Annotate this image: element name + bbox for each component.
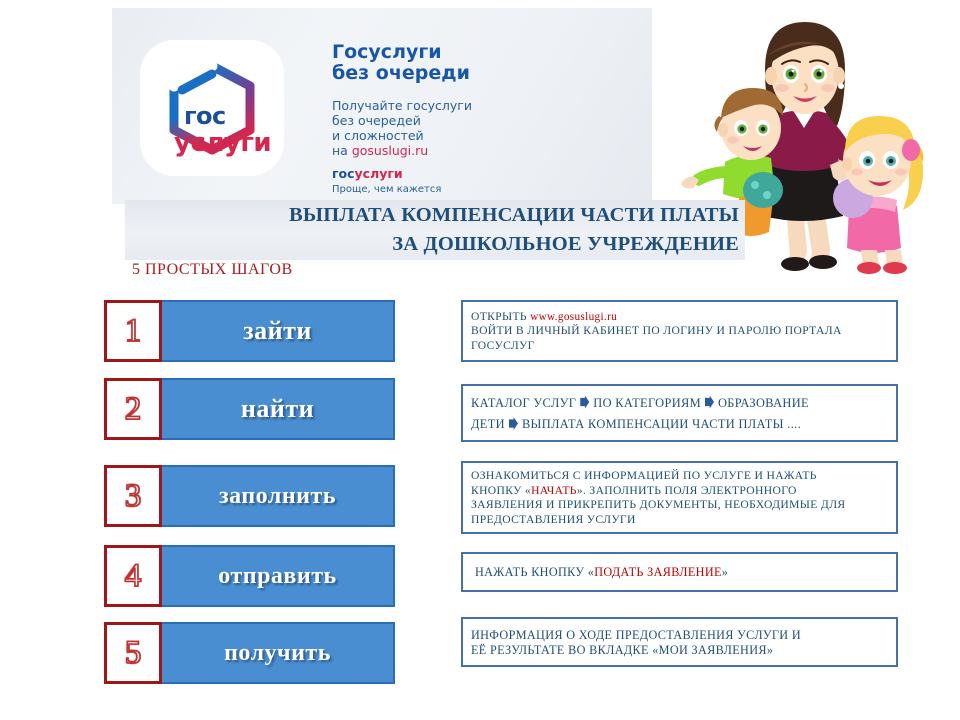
gosuslugi-logo-plate: гос услуги bbox=[140, 40, 284, 176]
step-number: 3 bbox=[125, 480, 142, 513]
step-number: 2 bbox=[125, 393, 142, 426]
desc-text: » bbox=[722, 565, 728, 579]
banner-headline-line2: без очереди bbox=[332, 62, 470, 84]
desc-line: ОТКРЫТЬ www.gosuslugi.ru bbox=[471, 310, 888, 325]
step-label: зайти bbox=[243, 316, 312, 346]
banner-sub-line4-prefix: на bbox=[332, 143, 352, 158]
logo-text-uslugi: услуги bbox=[174, 128, 271, 158]
education-label: ОБРАЗОВАНИЕ bbox=[718, 396, 809, 410]
desc-line: ГОСУСЛУГ bbox=[471, 339, 888, 354]
gosuslugi-banner: гос услуги Госуслуги без очереди Получай… bbox=[112, 8, 652, 204]
step-row[interactable]: 4 отправить bbox=[104, 545, 395, 607]
submit-application-mention: ПОДАТЬ ЗАЯВЛЕНИЕ bbox=[594, 565, 722, 579]
step-number-box: 4 bbox=[104, 545, 162, 607]
desc-line: ВОЙТИ В ЛИЧНЫЙ КАБИНЕТ ПО ЛОГИНУ И ПАРОЛ… bbox=[471, 324, 888, 339]
step-description-box: ИНФОРМАЦИЯ О ХОДЕ ПРЕДОСТАВЛЕНИЯ УСЛУГИ … bbox=[461, 617, 898, 667]
step-label: получить bbox=[224, 640, 331, 667]
step-row[interactable]: 3 заполнить bbox=[104, 465, 395, 527]
desc-line: ОЗНАКОМИТЬСЯ С ИНФОРМАЦИЕЙ ПО УСЛУГЕ И Н… bbox=[471, 469, 888, 484]
page-title-line1: ВЫПЛАТА КОМПЕНСАЦИИ ЧАСТИ ПЛАТЫ bbox=[289, 204, 739, 226]
arrow-right-icon bbox=[705, 396, 714, 409]
banner-sub-line2: без очередей bbox=[332, 113, 421, 128]
step-label-box[interactable]: отправить bbox=[162, 545, 395, 607]
step-label-box[interactable]: получить bbox=[162, 622, 395, 684]
desc-line: ДЕТИВЫПЛАТА КОМПЕНСАЦИИ ЧАСТИ ПЛАТЫ .... bbox=[471, 417, 888, 432]
arrow-right-icon bbox=[580, 396, 589, 409]
step-label: заполнить bbox=[219, 483, 336, 510]
page-title: ВЫПЛАТА КОМПЕНСАЦИИ ЧАСТИ ПЛАТЫ ЗА ДОШКО… bbox=[125, 201, 743, 259]
step-label-box[interactable]: найти bbox=[162, 378, 395, 440]
footer-logo-uslugi: услуги bbox=[355, 166, 403, 181]
step-description-box: КАТАЛОГ УСЛУГПО КАТЕГОРИЯМОБРАЗОВАНИЕ ДЕ… bbox=[461, 384, 898, 442]
desc-line: КНОПКУ «НАЧАТЬ». ЗАПОЛНИТЬ ПОЛЯ ЭЛЕКТРОН… bbox=[471, 484, 888, 499]
footer-logo-gos: гос bbox=[332, 166, 355, 181]
desc-line: ПРЕДОСТАВЛЕНИЯ УСЛУГИ bbox=[471, 513, 888, 528]
compensation-label: ВЫПЛАТА КОМПЕНСАЦИИ ЧАСТИ ПЛАТЫ .... bbox=[522, 417, 801, 431]
step-description-box: ОЗНАКОМИТЬСЯ С ИНФОРМАЦИЕЙ ПО УСЛУГЕ И Н… bbox=[461, 461, 898, 534]
step-description-box: ОТКРЫТЬ www.gosuslugi.ru ВОЙТИ В ЛИЧНЫЙ … bbox=[461, 300, 898, 362]
step-number-box: 3 bbox=[104, 465, 162, 527]
banner-footer-logo: госуслуги bbox=[332, 166, 403, 181]
gosuslugi-url-link[interactable]: www.gosuslugi.ru bbox=[530, 311, 617, 323]
banner-url[interactable]: gosuslugi.ru bbox=[352, 143, 428, 158]
step-number: 1 bbox=[125, 315, 142, 348]
step-row[interactable]: 2 найти bbox=[104, 378, 395, 440]
banner-sub-line3: и сложностей bbox=[332, 128, 424, 143]
banner-sub-line1: Получайте госуслуги bbox=[332, 98, 472, 113]
desc-line: НАЖАТЬ КНОПКУ «ПОДАТЬ ЗАЯВЛЕНИЕ» bbox=[471, 565, 888, 580]
banner-subtext: Получайте госуслуги без очередей и сложн… bbox=[332, 98, 552, 158]
step-label-box[interactable]: заполнить bbox=[162, 465, 395, 527]
step-number-box: 2 bbox=[104, 378, 162, 440]
catalog-label: КАТАЛОГ УСЛУГ bbox=[471, 396, 576, 410]
steps-heading: 5 ПРОСТЫХ ШАГОВ bbox=[132, 261, 293, 279]
categories-label: ПО КАТЕГОРИЯМ bbox=[593, 396, 701, 410]
start-button-mention: НАЧАТЬ bbox=[531, 484, 577, 497]
page-title-line2: ЗА ДОШКОЛЬНОЕ УЧРЕЖДЕНИЕ bbox=[392, 233, 739, 255]
banner-headline-line1: Госуслуги bbox=[332, 41, 442, 63]
step-number: 4 bbox=[125, 560, 142, 593]
step-label: отправить bbox=[218, 563, 336, 590]
girl-figure bbox=[833, 116, 923, 274]
banner-headline: Госуслуги без очереди bbox=[332, 42, 532, 84]
banner-tagline: Проще, чем кажется bbox=[332, 184, 441, 195]
desc-line: ЗАЯВЛЕНИЯ И ПРИКРЕПИТЬ ДОКУМЕНТЫ, НЕОБХО… bbox=[471, 498, 888, 513]
arrow-right-icon bbox=[509, 417, 518, 430]
desc-line: КАТАЛОГ УСЛУГПО КАТЕГОРИЯМОБРАЗОВАНИЕ bbox=[471, 396, 888, 411]
step-number: 5 bbox=[125, 637, 142, 670]
desc-line: ИНФОРМАЦИЯ О ХОДЕ ПРЕДОСТАВЛЕНИЯ УСЛУГИ … bbox=[471, 628, 888, 643]
step-description-box: НАЖАТЬ КНОПКУ «ПОДАТЬ ЗАЯВЛЕНИЕ» bbox=[461, 552, 898, 592]
step-label-box[interactable]: зайти bbox=[162, 300, 395, 362]
desc-line: ЕЁ РЕЗУЛЬТАТЕ ВО ВКЛАДКЕ «МОИ ЗАЯВЛЕНИЯ» bbox=[471, 643, 888, 658]
children-label: ДЕТИ bbox=[471, 417, 505, 431]
desc-text: НАЖАТЬ КНОПКУ « bbox=[475, 565, 594, 579]
desc-text: КНОПКУ « bbox=[471, 484, 531, 497]
step-number-box: 5 bbox=[104, 622, 162, 684]
logo-text-gos: гос bbox=[184, 102, 226, 130]
step-number-box: 1 bbox=[104, 300, 162, 362]
step-row[interactable]: 5 получить bbox=[104, 622, 395, 684]
step-row[interactable]: 1 зайти bbox=[104, 300, 395, 362]
desc-text: ». ЗАПОЛНИТЬ ПОЛЯ ЭЛЕКТРОННОГО bbox=[577, 484, 797, 497]
desc-text: ОТКРЫТЬ bbox=[471, 310, 530, 323]
step-label: найти bbox=[241, 394, 314, 424]
